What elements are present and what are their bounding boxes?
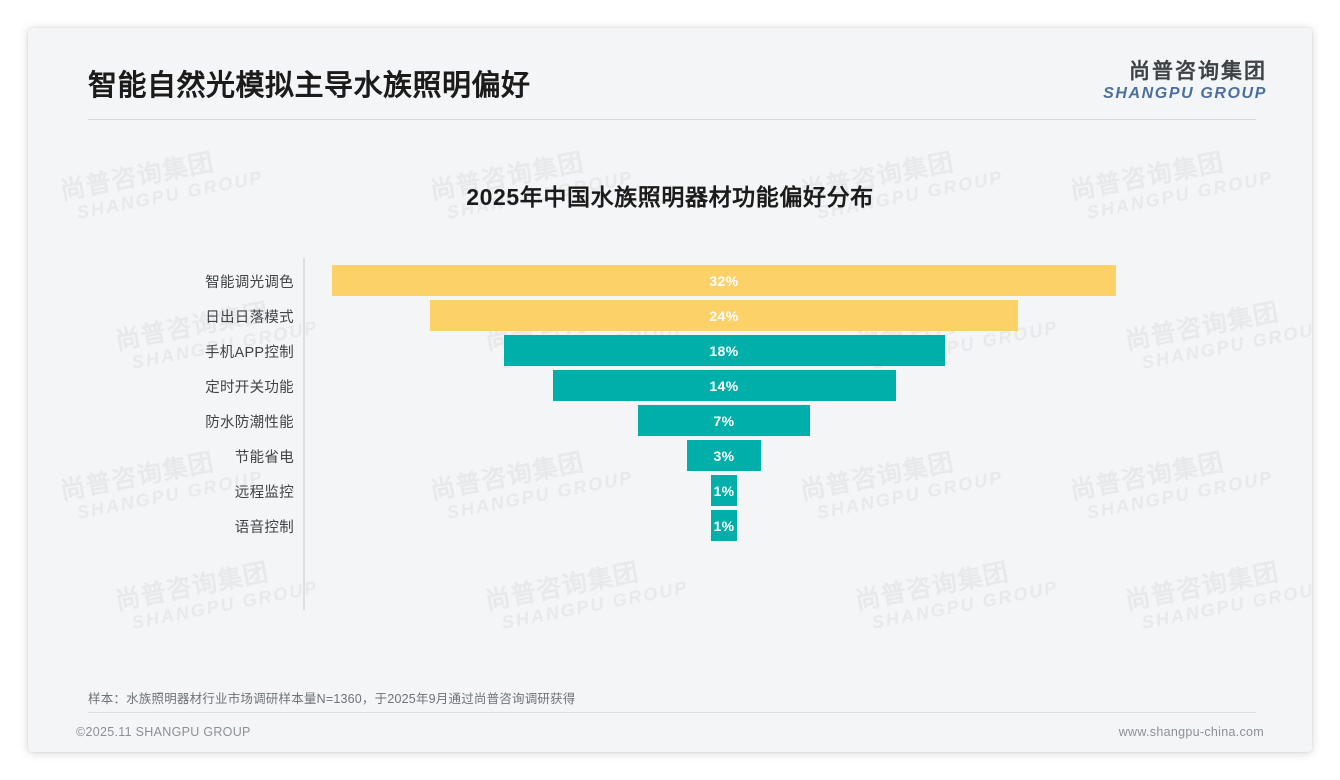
chart-row: 节能省电3% [28,439,1312,474]
category-label: 远程监控 [28,481,294,502]
slide-footer: ©2025.11 SHANGPU GROUP www.shangpu-china… [28,714,1312,752]
bar-value-label: 7% [713,413,734,429]
bar-zone: 14% [305,369,1312,404]
brand-name-en: SHANGPU GROUP [1103,84,1267,103]
bar-value-label: 24% [709,308,738,324]
category-label: 语音控制 [28,516,294,537]
source-footnote: 样本：水族照明器材行业市场调研样本量N=1360，于2025年9月通过尚普咨询调… [88,688,576,707]
bar-value-label: 1% [713,483,734,499]
chart-bar[interactable]: 24% [430,300,1018,331]
page-title: 智能自然光模拟主导水族照明偏好 [88,62,531,104]
chart-container: 2025年中国水族照明器材功能偏好分布 智能调光调色32%日出日落模式24%手机… [28,148,1312,668]
chart-bar[interactable]: 18% [504,335,945,366]
chart-title: 2025年中国水族照明器材功能偏好分布 [28,178,1312,212]
chart-row: 远程监控1% [28,474,1312,509]
category-label: 日出日落模式 [28,306,294,327]
bar-zone: 24% [305,299,1312,334]
footer-divider [88,712,1256,713]
slide-header: 智能自然光模拟主导水族照明偏好 尚普咨询集团 SHANGPU GROUP [28,28,1312,124]
bar-zone: 1% [305,474,1312,509]
bar-zone: 3% [305,439,1312,474]
brand-logo: 尚普咨询集团 SHANGPU GROUP [1103,60,1267,103]
header-divider [88,119,1256,120]
chart-bar[interactable]: 32% [332,265,1116,296]
chart-row: 智能调光调色32% [28,264,1312,299]
chart-row: 防水防潮性能7% [28,404,1312,439]
category-label: 防水防潮性能 [28,411,294,432]
category-label: 节能省电 [28,446,294,467]
bar-value-label: 14% [709,378,738,394]
bar-value-label: 32% [709,273,738,289]
website-url: www.shangpu-china.com [1119,725,1264,739]
chart-row: 手机APP控制18% [28,334,1312,369]
chart-bar[interactable]: 3% [687,440,761,471]
category-label: 手机APP控制 [28,341,294,362]
bar-zone: 1% [305,509,1312,544]
bar-zone: 7% [305,404,1312,439]
copyright-text: ©2025.11 SHANGPU GROUP [76,725,251,739]
bar-zone: 32% [305,264,1312,299]
funnel-rows: 智能调光调色32%日出日落模式24%手机APP控制18%定时开关功能14%防水防… [28,264,1312,544]
chart-plot-area: 智能调光调色32%日出日落模式24%手机APP控制18%定时开关功能14%防水防… [28,258,1312,618]
chart-row: 语音控制1% [28,509,1312,544]
chart-bar[interactable]: 7% [638,405,810,436]
chart-bar[interactable]: 1% [711,475,737,506]
brand-name-cn: 尚普咨询集团 [1103,60,1267,84]
bar-value-label: 18% [709,343,738,359]
slide-root: 尚普咨询集团SHANGPU GROUP尚普咨询集团SHANGPU GROUP尚普… [0,0,1340,780]
chart-bar[interactable]: 1% [711,510,737,541]
chart-row: 定时开关功能14% [28,369,1312,404]
slide-card: 尚普咨询集团SHANGPU GROUP尚普咨询集团SHANGPU GROUP尚普… [28,28,1312,752]
category-label: 定时开关功能 [28,376,294,397]
bar-zone: 18% [305,334,1312,369]
bar-value-label: 1% [713,518,734,534]
category-label: 智能调光调色 [28,271,294,292]
bar-value-label: 3% [713,448,734,464]
chart-row: 日出日落模式24% [28,299,1312,334]
chart-bar[interactable]: 14% [553,370,896,401]
